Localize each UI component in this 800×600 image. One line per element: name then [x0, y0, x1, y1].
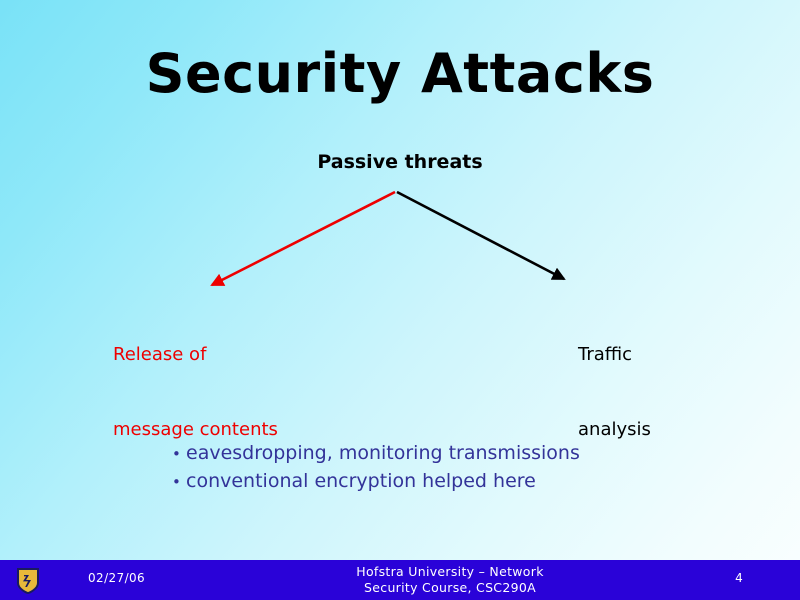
footer-course-line-2: Security Course, CSC290A [240, 580, 660, 596]
slide-canvas: Security Attacks Passive threats Release… [0, 0, 800, 600]
diagram-root-label: Passive threats [0, 151, 800, 173]
bullet-dot-icon: • [172, 441, 186, 468]
page-title: Security Attacks [0, 46, 800, 103]
arrow-to-traffic-analysis [397, 192, 564, 279]
bullet-list: • eavesdropping, monitoring transmission… [172, 440, 580, 496]
bullet-dot-icon: • [172, 469, 186, 496]
footer-course-info: Hofstra University – Network Security Co… [240, 564, 660, 596]
branch-label-line-2: message contents [113, 417, 278, 442]
branch-label-line-1: Release of [113, 342, 278, 367]
diagram-node-traffic-analysis: Traffic analysis [578, 292, 651, 492]
list-item: • conventional encryption helped here [172, 468, 580, 496]
hofstra-shield-icon [16, 568, 40, 594]
footer-course-line-1: Hofstra University – Network [240, 564, 660, 580]
footer-page-number: 4 [724, 571, 754, 585]
list-item-label: conventional encryption helped here [186, 468, 536, 495]
branch-label-line-2: analysis [578, 417, 651, 442]
arrow-to-release-of-message-contents [212, 192, 395, 285]
list-item-label: eavesdropping, monitoring transmissions [186, 440, 580, 467]
branch-label-line-1: Traffic [578, 342, 651, 367]
list-item: • eavesdropping, monitoring transmission… [172, 440, 580, 468]
footer-date: 02/27/06 [88, 571, 145, 585]
